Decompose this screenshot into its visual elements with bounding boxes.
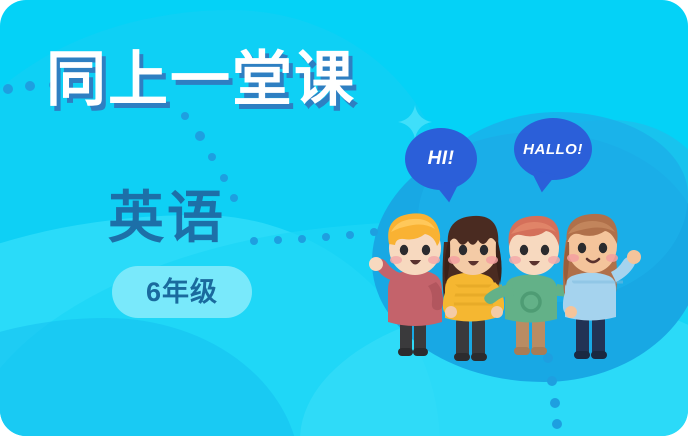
headline-column: 同上一堂课 英语 6年级	[0, 0, 360, 436]
character-light-brown-girl	[563, 214, 641, 359]
speech-bubble-hallo-label: HALLO!	[523, 141, 583, 158]
students-illustration	[368, 182, 668, 367]
course-banner-card: 同上一堂课 英语 6年级 HI! HALLO!	[0, 0, 688, 436]
character-brown-hair-girl	[443, 216, 505, 361]
subject-title: 英语	[108, 190, 226, 246]
speech-bubble-hi: HI!	[405, 128, 477, 190]
dot-trail-bottom-right-dot-3	[552, 419, 562, 429]
students-illustration-svg	[368, 182, 668, 367]
banner-title: 同上一堂课	[46, 50, 356, 110]
speech-bubble-hi-label: HI!	[428, 148, 455, 170]
dot-trail-bottom-right-dot-1	[547, 376, 557, 386]
grade-badge: 6年级	[112, 266, 252, 318]
character-blond-boy	[369, 213, 443, 356]
dot-trail-bottom-right-dot-2	[550, 398, 560, 408]
grade-badge-label: 6年级	[146, 279, 218, 306]
speech-bubble-hallo: HALLO!	[514, 118, 592, 180]
